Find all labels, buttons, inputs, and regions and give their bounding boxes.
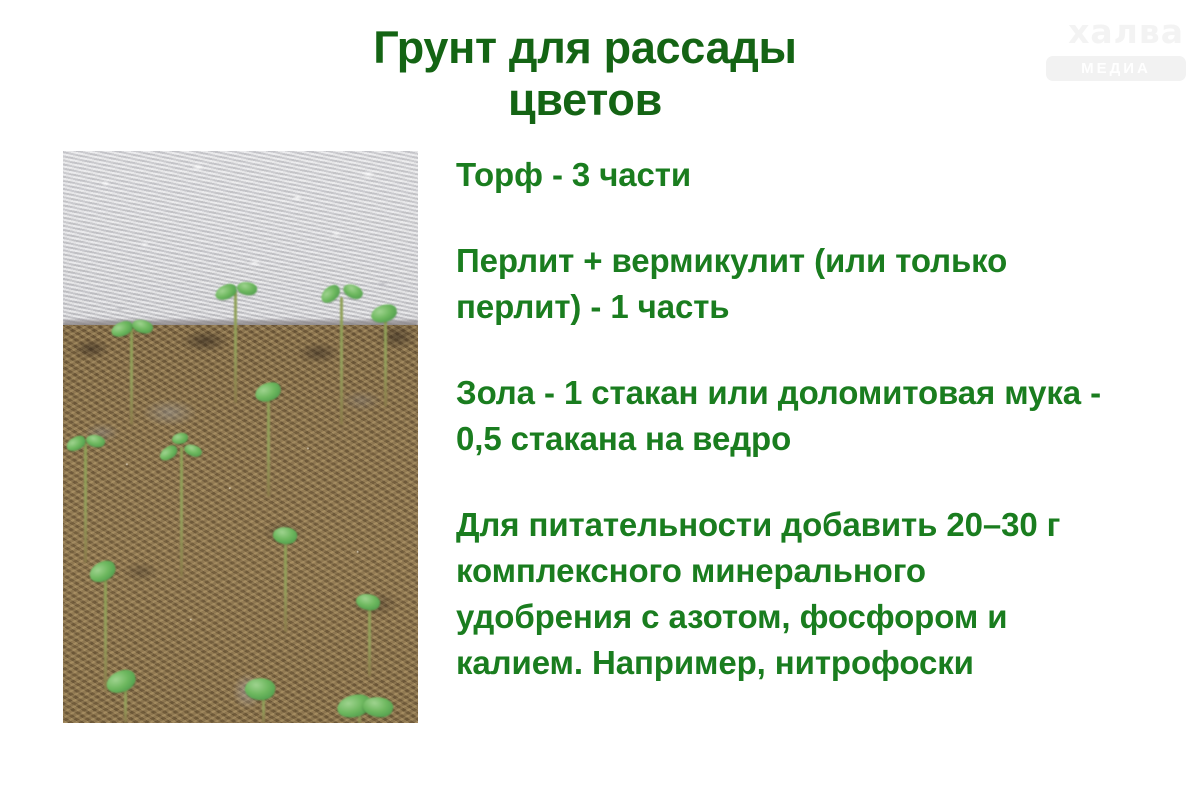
photo-soil-surface: [63, 325, 418, 723]
recipe-paragraph-peat: Торф - 3 части: [456, 152, 1106, 198]
seedlings-photo: [63, 151, 418, 723]
recipe-paragraph-fertilizer: Для питательности добавить 20–30 г компл…: [456, 502, 1106, 686]
page-title-line-2: цветов: [300, 74, 870, 126]
infographic-slide: халва МЕДИА Грунт для рассады цветов: [0, 0, 1200, 800]
watermark-pill: МЕДИА: [1046, 56, 1186, 81]
page-title-line-1: Грунт для рассады: [300, 22, 870, 74]
watermark-wordmark: халва: [1068, 14, 1184, 50]
recipe-paragraph-perlite: Перлит + вермикулит (или только перлит) …: [456, 238, 1106, 330]
page-title: Грунт для рассады цветов: [300, 22, 870, 126]
watermark-logo: халва МЕДИА: [1036, 14, 1186, 82]
watermark-pill-label: МЕДИА: [1046, 60, 1186, 77]
recipe-text-block: Торф - 3 части Перлит + вермикулит (или …: [456, 152, 1106, 686]
recipe-paragraph-ash: Зола - 1 стакан или доломитовая мука - 0…: [456, 370, 1106, 462]
photo-wall-background: [63, 151, 418, 331]
